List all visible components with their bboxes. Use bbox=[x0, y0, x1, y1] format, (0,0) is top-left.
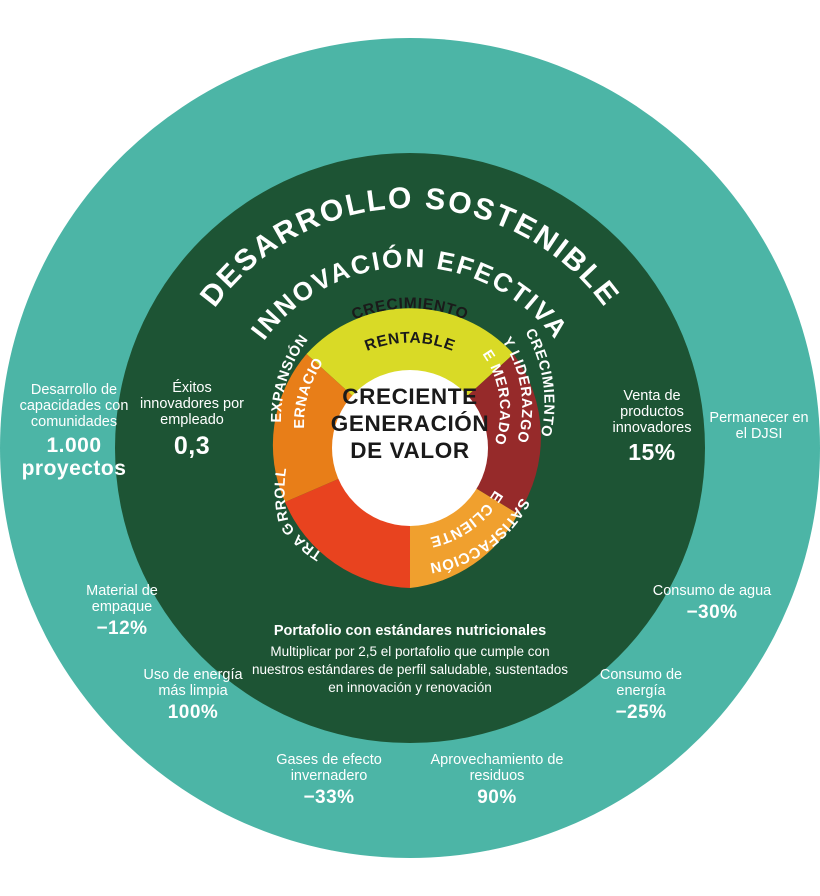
infographic-root: DESARROLLO SOSTENIBLE INNOVACIÓN EFECTIV… bbox=[0, 0, 820, 896]
center-line-2: GENERACIÓN bbox=[331, 411, 490, 436]
metric-venta-productos-innovadores: Venta de productos innovadores 15% bbox=[600, 388, 704, 465]
metric-value: 90% bbox=[428, 787, 566, 808]
metric-value: 15% bbox=[600, 440, 704, 466]
metric-label: Consumo de energía bbox=[583, 667, 699, 699]
metric-gases-efecto-invernadero: Gases de efecto invernadero −33% bbox=[266, 752, 392, 809]
metric-value: 100% bbox=[135, 702, 251, 723]
metric-label: Desarrollo de capacidades con comunidade… bbox=[12, 382, 136, 431]
metric-uso-energia-mas-limpia: Uso de energía más limpia 100% bbox=[135, 667, 251, 724]
metric-label: Éxitos innovadores por empleado bbox=[140, 380, 244, 429]
metric-label: Aprovechamiento de residuos bbox=[428, 752, 566, 784]
metric-value: −25% bbox=[583, 702, 699, 723]
metric-label: Permanecer en el DJSI bbox=[707, 410, 811, 442]
portfolio-note: Portafolio con estándares nutricionales … bbox=[250, 623, 570, 698]
center-line-3: DE VALOR bbox=[350, 438, 469, 463]
metric-permanecer-en-el-djsi: Permanecer en el DJSI bbox=[707, 410, 811, 442]
metric-desarrollo-capacidades-comunidades: Desarrollo de capacidades con comunidade… bbox=[12, 382, 136, 481]
portfolio-heading: Portafolio con estándares nutricionales bbox=[250, 623, 570, 639]
metric-label: Gases de efecto invernadero bbox=[266, 752, 392, 784]
metric-label: Uso de energía más limpia bbox=[135, 667, 251, 699]
metric-label: Venta de productos innovadores bbox=[600, 388, 704, 437]
center-value-label: CRECIENTE GENERACIÓN DE VALOR bbox=[320, 383, 500, 464]
metric-consumo-de-energia: Consumo de energía −25% bbox=[583, 667, 699, 724]
metric-value: 0,3 bbox=[140, 432, 244, 460]
metric-consumo-de-agua: Consumo de agua −30% bbox=[652, 583, 772, 624]
metric-value: −30% bbox=[652, 602, 772, 623]
portfolio-body: Multiplicar por 2,5 el portafolio que cu… bbox=[250, 643, 570, 698]
metric-value: −12% bbox=[62, 618, 182, 639]
metric-material-de-empaque: Material de empaque −12% bbox=[62, 583, 182, 640]
metric-exitos-innovadores-por-empleado: Éxitos innovadores por empleado 0,3 bbox=[140, 380, 244, 460]
metric-label: Consumo de agua bbox=[652, 583, 772, 599]
metric-aprovechamiento-de-residuos: Aprovechamiento de residuos 90% bbox=[428, 752, 566, 809]
metric-value: 1.000 proyectos bbox=[12, 434, 136, 481]
center-line-1: CRECIENTE bbox=[342, 384, 477, 409]
metric-label: Material de empaque bbox=[62, 583, 182, 615]
metric-value: −33% bbox=[266, 787, 392, 808]
